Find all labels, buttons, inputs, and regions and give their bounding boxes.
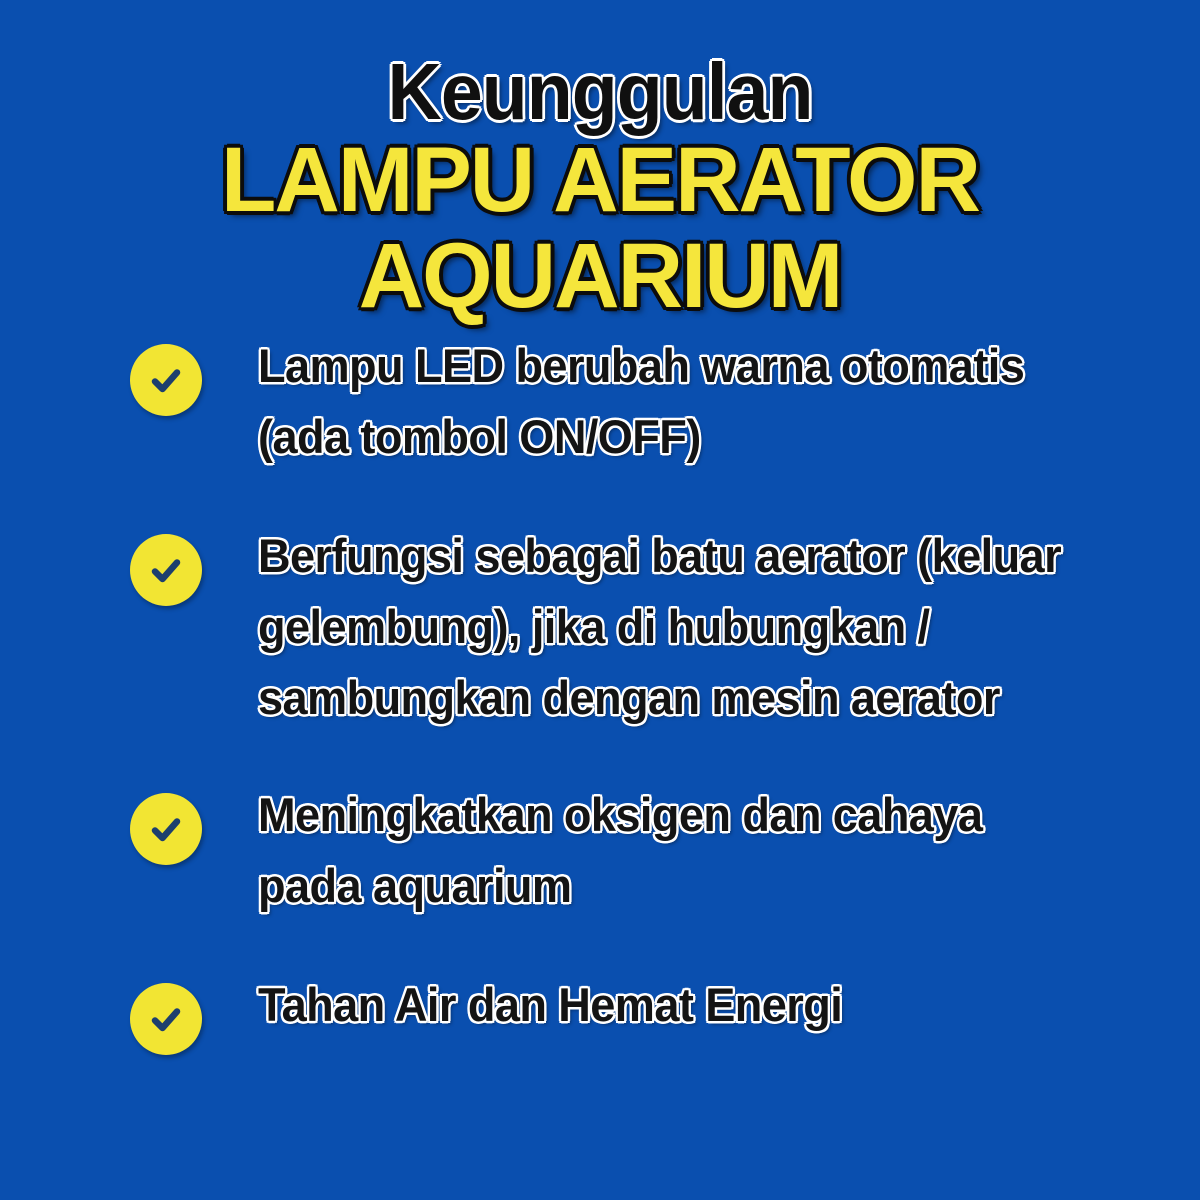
list-item-label: Tahan Air dan Hemat Energi — [258, 969, 1095, 1040]
promo-poster: { "theme": { "background": "#0a4faf", "a… — [0, 0, 1200, 1200]
list-item-label: Berfungsi sebagai batu aerator (keluar g… — [258, 520, 1095, 733]
check-icon-wrapper — [130, 793, 202, 865]
check-icon-wrapper — [130, 983, 202, 1055]
poster-heading: Keunggulan LAMPU AERATOR AQUARIUM — [0, 0, 1200, 324]
check-circle-icon — [130, 534, 202, 606]
check-icon-wrapper — [130, 344, 202, 416]
list-item: Meningkatkan oksigen dan cahaya pada aqu… — [130, 779, 1130, 921]
check-icon-wrapper — [130, 534, 202, 606]
list-item-label: Meningkatkan oksigen dan cahaya pada aqu… — [258, 779, 1095, 921]
page-title-product: LAMPU AERATOR AQUARIUM — [9, 132, 1191, 324]
list-item: Tahan Air dan Hemat Energi — [130, 969, 1130, 1055]
list-item: Lampu LED berubah warna otomatis (ada to… — [130, 330, 1130, 472]
page-title-primary: Keunggulan — [36, 0, 1164, 136]
list-item-label: Lampu LED berubah warna otomatis (ada to… — [258, 330, 1095, 472]
list-item: Berfungsi sebagai batu aerator (keluar g… — [130, 520, 1130, 733]
check-circle-icon — [130, 793, 202, 865]
check-circle-icon — [130, 344, 202, 416]
feature-list: Lampu LED berubah warna otomatis (ada to… — [130, 330, 1130, 1055]
check-circle-icon — [130, 983, 202, 1055]
